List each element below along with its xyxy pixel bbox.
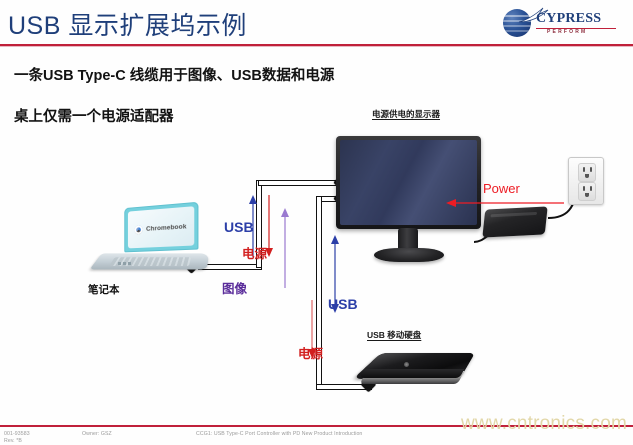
power-label-bottom: 电源: [298, 343, 323, 362]
footer-revision: Rev. *B: [4, 438, 22, 444]
image-label: 图像: [222, 278, 247, 297]
power-label-top: 电源: [242, 243, 267, 262]
chromebook-laptop-icon: Chromebook: [96, 205, 208, 275]
power-flow-arrow: [446, 196, 568, 210]
page-title-latin: USB: [8, 12, 68, 40]
cypress-logo: CYPRESS PERFORM: [503, 7, 619, 39]
laptop-lid: Chromebook: [124, 202, 198, 253]
outlet-socket-bottom: [578, 182, 596, 201]
laptop-ports: [118, 262, 132, 265]
page-title: USB 显示扩展坞示例: [8, 6, 247, 42]
power-adapter-brick-icon: [482, 206, 547, 237]
header-divider-soft: [0, 46, 633, 47]
cypress-tagline: PERFORM: [547, 29, 587, 35]
power-en-label: Power: [483, 181, 520, 196]
cable-to-monitor-upper: [258, 180, 344, 186]
laptop-screen: Chromebook: [128, 206, 194, 248]
usb-label-bottom: USB: [328, 296, 358, 312]
page-title-cn: 显示扩展坞示例: [68, 12, 247, 40]
monitor-label: 电源供电的显示器: [372, 108, 440, 120]
laptop-label: 笔记本: [88, 282, 120, 297]
wall-outlet-icon: [568, 157, 604, 205]
footer: 001-93583 Rev. *B Owner: GSZ CCG1: USB T…: [0, 431, 633, 443]
image-direction-arrow: [278, 208, 292, 288]
bullet-line-2: 桌上仅需一个电源适配器: [14, 105, 174, 126]
footer-title: CCG1: USB Type-C Port Controller with PD…: [196, 431, 362, 437]
harddrive-front: [360, 369, 465, 378]
chromebook-logo-icon: [135, 225, 143, 234]
monitor-bezel: [336, 136, 481, 229]
laptop-brand-text: Chromebook: [146, 223, 187, 233]
footer-owner: Owner: GSZ: [82, 431, 112, 437]
external-hard-drive-icon: [362, 344, 474, 406]
slide-root: USB 显示扩展坞示例 CYPRESS PERFORM 一条USB Type-C…: [0, 0, 633, 445]
harddrive-led: [404, 362, 409, 367]
cypress-brand-text: CYPRESS: [536, 11, 601, 27]
usb-label-top: USB: [224, 219, 254, 235]
bullet-line-1: 一条USB Type-C 线缆用于图像、USB数据和电源: [14, 64, 334, 85]
footer-doc-id: 001-93583: [4, 431, 30, 437]
monitor-base: [374, 248, 444, 262]
outlet-socket-top: [578, 163, 596, 182]
harddrive-label: USB 移动硬盘: [367, 329, 421, 341]
monitor-screen: [340, 140, 477, 225]
